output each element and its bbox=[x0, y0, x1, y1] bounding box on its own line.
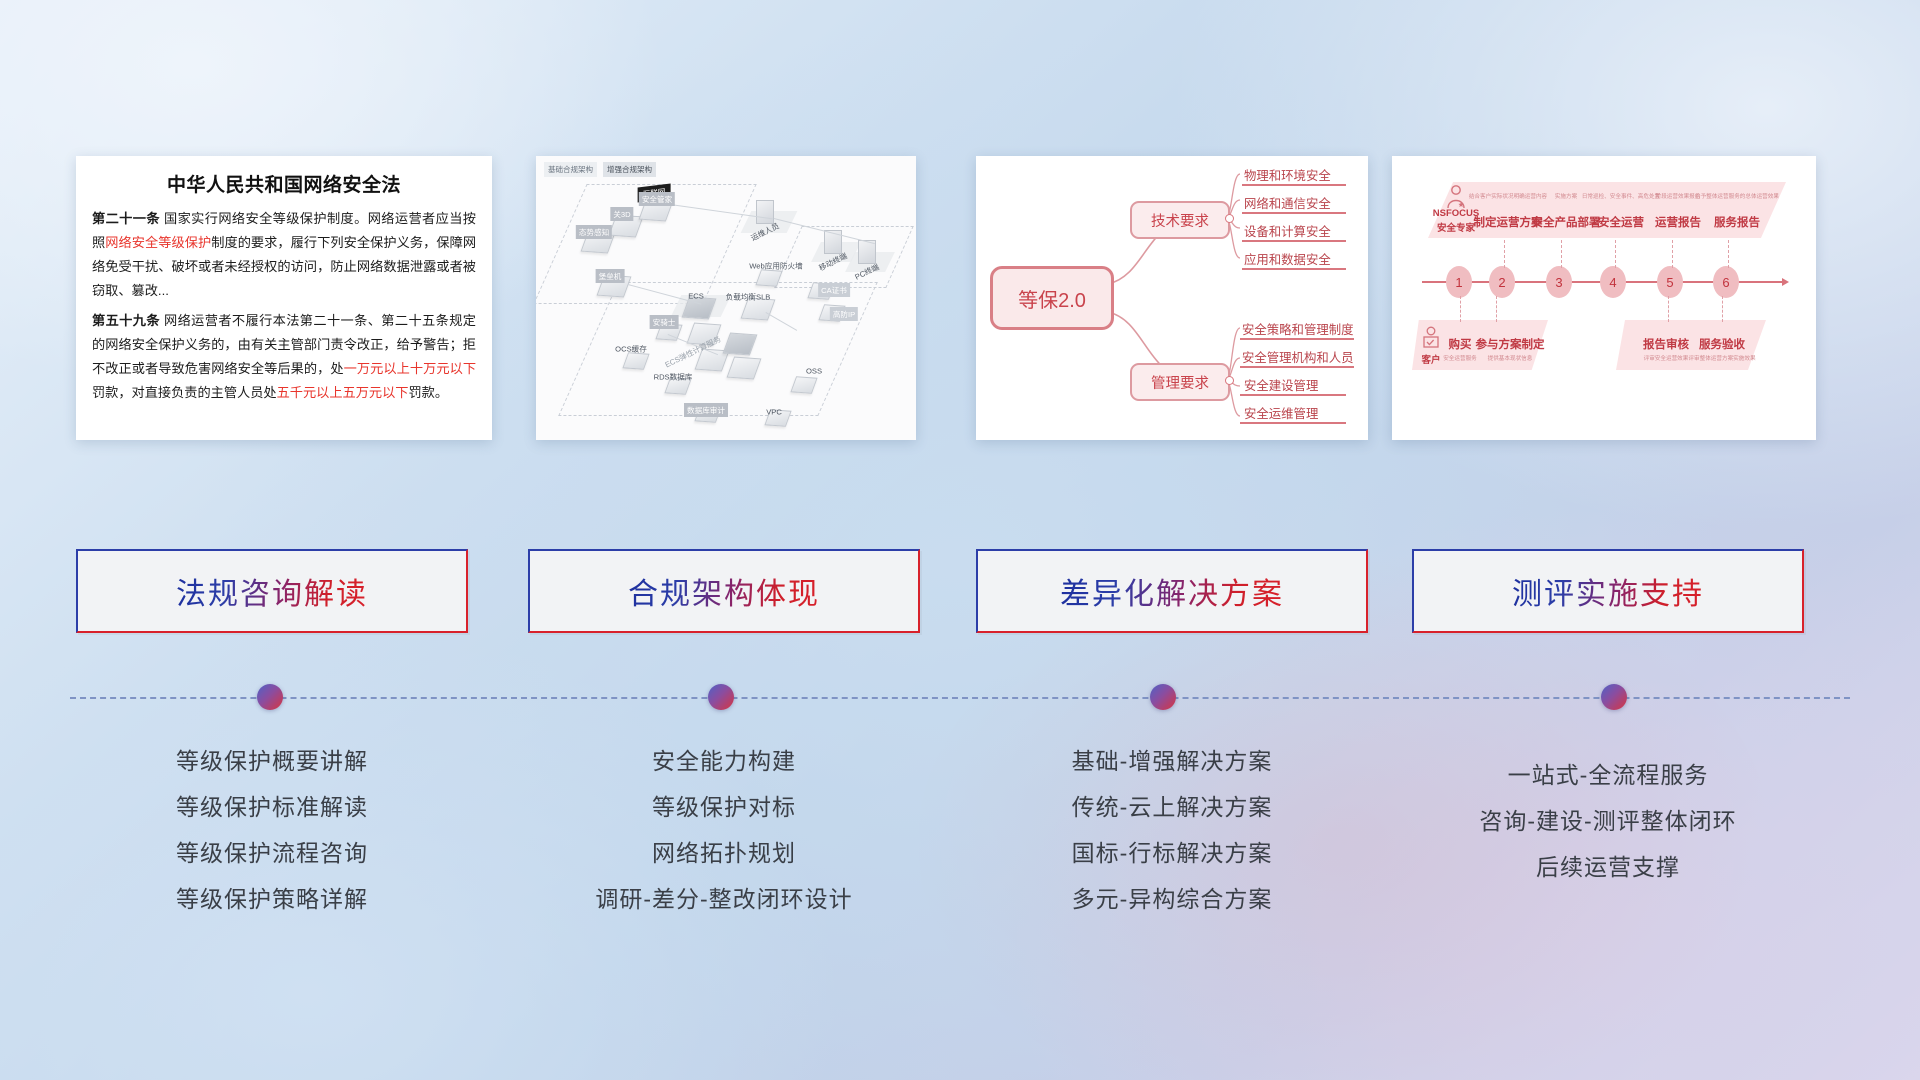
mindmap-leaf: 安全策略和管理制度 bbox=[1242, 320, 1354, 338]
nsfocus-leader bbox=[1496, 296, 1497, 322]
list-item: 咨询-建设-测评整体闭环 bbox=[1412, 798, 1804, 844]
title-box-label: 测评实施支持 bbox=[1512, 569, 1704, 613]
list-item: 等级保护流程咨询 bbox=[76, 830, 468, 876]
bullet-column-3: 基础-增强解决方案 传统-云上解决方案 国标-行标解决方案 多元-异构综合方案 bbox=[976, 738, 1368, 922]
customer-avatar-icon bbox=[1420, 326, 1442, 350]
law-paragraph-59: 第五十九条 网络运营者不履行本法第二十一条、第二十五条规定的网络安全保护义务的，… bbox=[92, 309, 476, 405]
nsfocus-leader bbox=[1504, 240, 1505, 268]
architecture-node-label-slb: 负载均衡SLB bbox=[726, 292, 771, 303]
mindmap-branch-management: 管理要求 bbox=[1130, 363, 1230, 401]
nsfocus-top-sub-4: 阶段运营效果报告 bbox=[1656, 192, 1701, 200]
timeline-dot-3[interactable] bbox=[1150, 684, 1176, 710]
mindmap-leaf-underline bbox=[1240, 394, 1346, 396]
card-law-text: 中华人民共和国网络安全法 第二十一条 国家实行网络安全等级保护制度。网络运营者应… bbox=[76, 156, 492, 440]
nsfocus-top-sub-3: 日常巡检、安全事件、高危处置 bbox=[1582, 192, 1660, 200]
law-seg: 罚款。 bbox=[409, 385, 449, 400]
mindmap-leaf: 应用和数据安全 bbox=[1244, 250, 1331, 268]
mindmap-leaf: 设备和计算安全 bbox=[1244, 222, 1331, 240]
list-item: 网络拓扑规划 bbox=[528, 830, 920, 876]
list-item: 等级保护对标 bbox=[528, 784, 920, 830]
architecture-node-label-situational-awareness: 态势感知 bbox=[576, 225, 612, 239]
list-item: 传统-云上解决方案 bbox=[976, 784, 1368, 830]
nsfocus-step-6: 6 bbox=[1713, 266, 1739, 298]
card-architecture-diagram: 基础合规架构 增强合规架构 互联网 bbox=[536, 156, 916, 440]
mindmap-leaf: 物理和环境安全 bbox=[1244, 166, 1331, 184]
nsfocus-top-sub-2: 实施方案 bbox=[1555, 192, 1577, 200]
nsfocus-leader bbox=[1561, 240, 1562, 268]
title-box-label: 合规架构体现 bbox=[628, 569, 820, 613]
nsfocus-leader bbox=[1615, 240, 1616, 268]
mindmap-leaf: 安全管理机构和人员 bbox=[1242, 348, 1354, 366]
nsfocus-bottom-sub-1: 安全运营服务 bbox=[1443, 354, 1477, 362]
mindmap-leaf: 网络和通信安全 bbox=[1244, 194, 1331, 212]
architecture-tabs: 基础合规架构 增强合规架构 bbox=[544, 162, 656, 177]
card-nsfocus-timeline: NSFOCUS 安全专家 客户 1 2 3 4 5 6 bbox=[1392, 156, 1816, 440]
nsfocus-axis-arrow-icon bbox=[1782, 278, 1789, 286]
list-item: 等级保护标准解读 bbox=[76, 784, 468, 830]
nsfocus-bottom-sub-2: 提供基本现状信息 bbox=[1488, 354, 1533, 362]
nsfocus-bottom-title-4: 服务验收 bbox=[1699, 336, 1745, 352]
mindmap-leaf-underline bbox=[1240, 366, 1354, 368]
nsfocus-expert-label-line1: NSFOCUS bbox=[1433, 208, 1479, 219]
law-title: 中华人民共和国网络安全法 bbox=[92, 170, 476, 197]
architecture-cube bbox=[726, 334, 754, 355]
mindmap-leaf: 安全建设管理 bbox=[1244, 376, 1318, 394]
timeline-dot-4[interactable] bbox=[1601, 684, 1627, 710]
nsfocus-step-3: 3 bbox=[1546, 266, 1572, 298]
architecture-canvas: 基础合规架构 增强合规架构 互联网 bbox=[536, 156, 916, 440]
nsfocus-step-4: 4 bbox=[1600, 266, 1626, 298]
list-item: 等级保护概要讲解 bbox=[76, 738, 468, 784]
list-item: 一站式-全流程服务 bbox=[1412, 752, 1804, 798]
list-item: 国标-行标解决方案 bbox=[976, 830, 1368, 876]
architecture-node-label-rds-database: RDS数据库 bbox=[654, 372, 693, 383]
nsfocus-bottom-title-1: 购买 bbox=[1449, 336, 1472, 352]
law-seg: 罚款，对直接负责的主管人员处 bbox=[92, 385, 277, 400]
nsfocus-top-sub-1: 结合客户实际状况明确运营内容 bbox=[1469, 192, 1547, 200]
architecture-tab-basic[interactable]: 基础合规架构 bbox=[544, 162, 597, 177]
title-box-evaluation-support[interactable]: 测评实施支持 bbox=[1412, 549, 1804, 633]
timeline-dot-1[interactable] bbox=[257, 684, 283, 710]
slide-root: 中华人民共和国网络安全法 第二十一条 国家实行网络安全等级保护制度。网络运营者应… bbox=[0, 0, 1920, 1080]
architecture-cube bbox=[793, 377, 815, 393]
security-expert-avatar-icon bbox=[1444, 184, 1468, 210]
architecture-node-label-ca-certificate: CA证书 bbox=[818, 283, 850, 297]
mindmap-leaf-underline bbox=[1240, 422, 1346, 424]
mindmap-leaf-underline bbox=[1242, 184, 1346, 186]
mindmap-root-node: 等保2.0 bbox=[990, 266, 1114, 330]
architecture-node-label-ecs: ECS bbox=[688, 292, 704, 301]
title-box-label: 法规咨询解读 bbox=[176, 569, 368, 613]
architecture-cube bbox=[625, 353, 647, 369]
nsfocus-top-title-4: 运营报告 bbox=[1655, 214, 1701, 230]
nsfocus-top-title-3: 安全运营 bbox=[1598, 214, 1644, 230]
timeline-axis bbox=[70, 697, 1850, 699]
mindmap-leaf: 安全运维管理 bbox=[1244, 404, 1318, 422]
law-seg-highlight: 一万元以上十万元以下 bbox=[344, 361, 476, 376]
nsfocus-leader bbox=[1672, 240, 1673, 268]
list-item: 后续运营支撑 bbox=[1412, 844, 1804, 890]
timeline-dot-2[interactable] bbox=[708, 684, 734, 710]
bullet-column-2: 安全能力构建 等级保护对标 网络拓扑规划 调研-差分-整改闭环设计 bbox=[528, 738, 920, 922]
nsfocus-top-title-2: 安全产品部署 bbox=[1532, 214, 1601, 230]
mindmap-canvas: 等保2.0 技术要求 管理要求 物理和环境安全 网络和通信安全 设备和计算安全 … bbox=[976, 156, 1368, 440]
nsfocus-top-title-5: 服务报告 bbox=[1714, 214, 1760, 230]
architecture-node-label-guan3d: 关3D bbox=[610, 207, 633, 221]
bullet-column-1: 等级保护概要讲解 等级保护标准解读 等级保护流程咨询 等级保护策略详解 bbox=[76, 738, 468, 922]
mindmap-collapse-dot bbox=[1225, 214, 1234, 223]
law-card-body: 中华人民共和国网络安全法 第二十一条 国家实行网络安全等级保护制度。网络运营者应… bbox=[76, 156, 492, 440]
nsfocus-leader bbox=[1728, 240, 1729, 268]
title-box-label: 差异化解决方案 bbox=[1060, 569, 1284, 613]
mindmap-leaf-underline bbox=[1242, 212, 1346, 214]
card-mindmap: 等保2.0 技术要求 管理要求 物理和环境安全 网络和通信安全 设备和计算安全 … bbox=[976, 156, 1368, 440]
architecture-node-label-waf: Web应用防火墙 bbox=[749, 261, 802, 272]
nsfocus-leader bbox=[1722, 296, 1723, 322]
bullet-column-4: 一站式-全流程服务 咨询-建设-测评整体闭环 后续运营支撑 bbox=[1412, 752, 1804, 890]
architecture-node-label-bastion-host: 堡垒机 bbox=[596, 269, 625, 283]
mindmap-leaf-underline bbox=[1242, 240, 1346, 242]
nsfocus-customer-label: 客户 bbox=[1421, 352, 1440, 366]
nsfocus-step-5: 5 bbox=[1657, 266, 1683, 298]
list-item: 安全能力构建 bbox=[528, 738, 920, 784]
list-item: 调研-差分-整改闭环设计 bbox=[528, 876, 920, 922]
nsfocus-expert-label-line2: 安全专家 bbox=[1437, 220, 1475, 234]
mindmap-leaf-underline bbox=[1240, 338, 1354, 340]
list-item: 等级保护策略详解 bbox=[76, 876, 468, 922]
architecture-node-label-database-audit: 数据库审计 bbox=[684, 403, 728, 417]
law-article-label-59: 第五十九条 bbox=[92, 313, 160, 328]
nsfocus-bottom-title-2: 参与方案制定 bbox=[1476, 336, 1545, 352]
nsfocus-canvas: NSFOCUS 安全专家 客户 1 2 3 4 5 6 bbox=[1392, 156, 1816, 440]
list-item: 多元-异构综合方案 bbox=[976, 876, 1368, 922]
architecture-cube bbox=[730, 358, 758, 379]
title-box-differentiated-solution[interactable]: 差异化解决方案 bbox=[976, 549, 1368, 633]
mindmap-leaf-underline bbox=[1242, 268, 1346, 270]
architecture-cube bbox=[758, 270, 780, 286]
architecture-tab-enhanced[interactable]: 增强合规架构 bbox=[603, 162, 656, 177]
architecture-node-label-security-steward: 安全管家 bbox=[639, 192, 675, 206]
nsfocus-bottom-sub-3: 评审安全运营效果 bbox=[1644, 354, 1689, 362]
mindmap-collapse-dot bbox=[1225, 376, 1234, 385]
nsfocus-top-sub-5: 给予整体运营服务的总体运营效果 bbox=[1695, 192, 1779, 200]
list-item: 基础-增强解决方案 bbox=[976, 738, 1368, 784]
architecture-node-label-ocs-cache: OCS缓存 bbox=[615, 344, 647, 355]
nsfocus-leader bbox=[1460, 296, 1461, 322]
architecture-node-label-anti-ddos-ip: 高防IP bbox=[830, 307, 858, 321]
nsfocus-leader bbox=[1668, 296, 1669, 322]
mindmap-branch-technical: 技术要求 bbox=[1130, 201, 1230, 239]
nsfocus-step-1: 1 bbox=[1446, 266, 1472, 298]
nsfocus-bottom-sub-4: 评审整体运营方案实施效果 bbox=[1688, 354, 1755, 362]
architecture-node-label-anqishi: 安骑士 bbox=[650, 315, 679, 329]
law-seg-highlight: 网络安全等级保护 bbox=[105, 235, 211, 250]
architecture-server-icon bbox=[756, 200, 774, 224]
architecture-node-label-oss: OSS bbox=[806, 367, 822, 376]
title-box-compliance-architecture[interactable]: 合规架构体现 bbox=[528, 549, 920, 633]
nsfocus-bottom-title-3: 报告审核 bbox=[1643, 336, 1689, 352]
law-article-label-21: 第二十一条 bbox=[92, 211, 160, 226]
architecture-node-label-vpc: VPC bbox=[766, 408, 782, 417]
nsfocus-step-2: 2 bbox=[1489, 266, 1515, 298]
law-seg-highlight: 五千元以上五万元以下 bbox=[277, 385, 409, 400]
title-box-regulation-consulting[interactable]: 法规咨询解读 bbox=[76, 549, 468, 633]
law-paragraph-21: 第二十一条 国家实行网络安全等级保护制度。网络运营者应当按照网络安全等级保护制度… bbox=[92, 207, 476, 303]
